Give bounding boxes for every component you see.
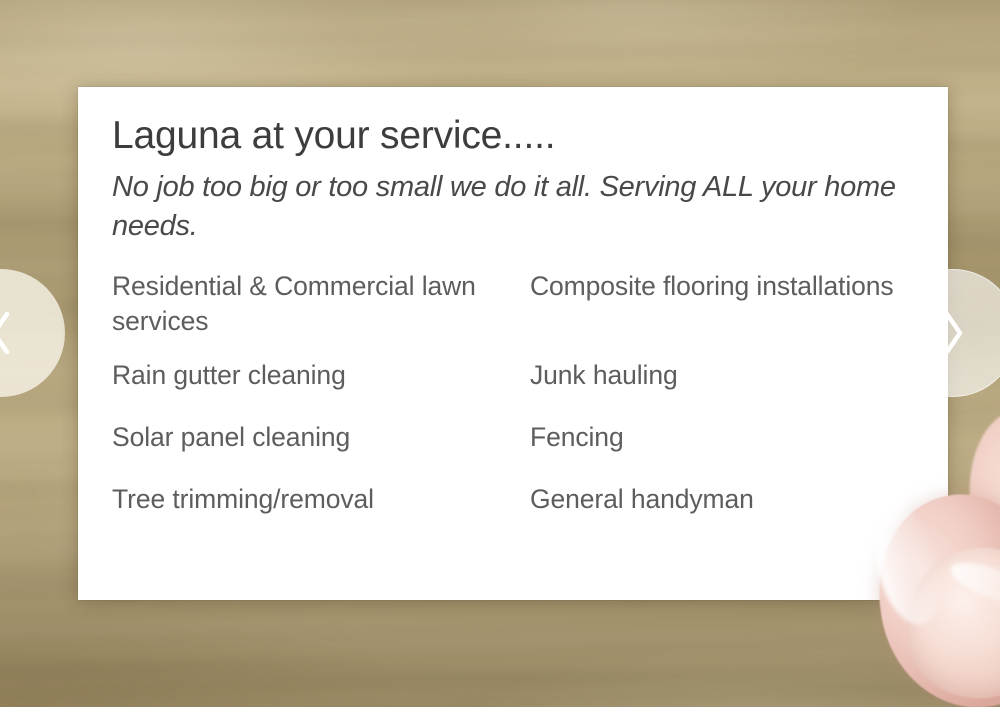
card-content: Laguna at your service..... No job too b… — [112, 113, 922, 580]
screenshot-viewport: Laguna at your service..... No job too b… — [0, 0, 1000, 707]
service-item: Fencing — [530, 420, 922, 482]
services-list: Residential & Commercial lawn services C… — [112, 269, 922, 544]
service-item: Tree trimming/removal — [112, 482, 530, 544]
chevron-right-icon — [940, 309, 966, 357]
service-item: Composite flooring installations — [530, 269, 922, 358]
service-item: Solar panel cleaning — [112, 420, 530, 482]
business-card[interactable]: Laguna at your service..... No job too b… — [78, 87, 948, 600]
service-item: Junk hauling — [530, 358, 922, 420]
card-tagline: No job too big or too small we do it all… — [112, 168, 922, 245]
chevron-left-icon — [0, 309, 14, 357]
service-item: Residential & Commercial lawn services — [112, 269, 530, 358]
service-item: Rain gutter cleaning — [112, 358, 530, 420]
card-title: Laguna at your service..... — [112, 113, 922, 158]
service-item: General handyman — [530, 482, 922, 544]
